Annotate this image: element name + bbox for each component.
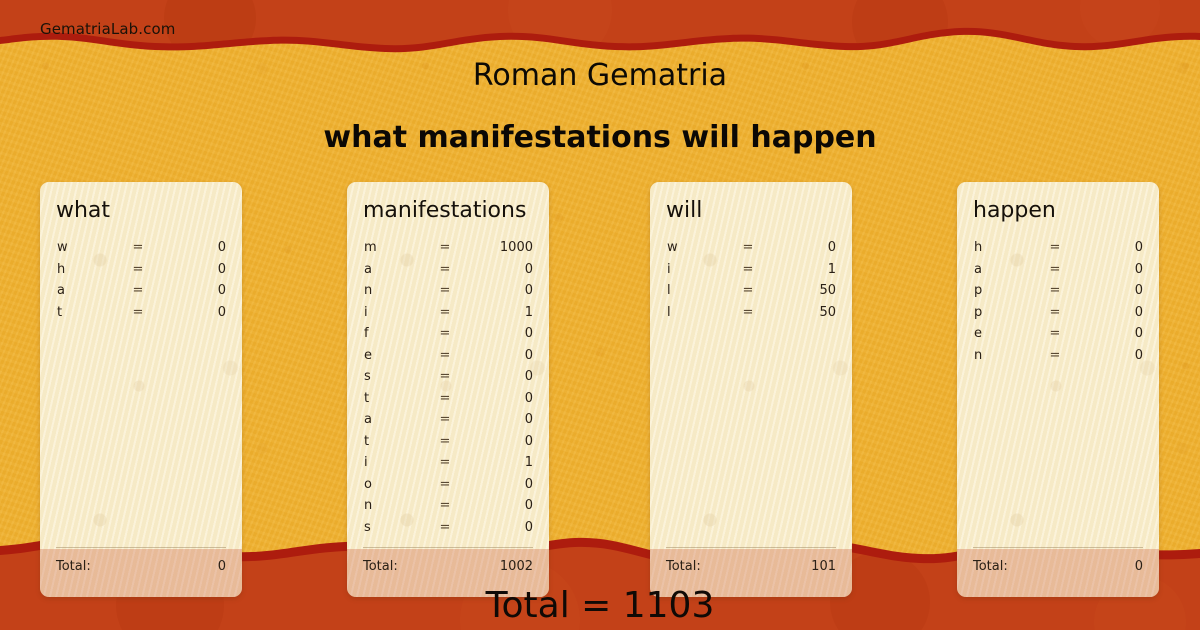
equals-sign: = xyxy=(728,240,768,255)
letter-value: 50 xyxy=(819,305,836,320)
letter-row: h = 0 xyxy=(957,240,1159,262)
letter-value: 0 xyxy=(525,391,533,406)
letter-value: 50 xyxy=(819,283,836,298)
letter-value: 0 xyxy=(525,520,533,535)
equals-sign: = xyxy=(728,262,768,277)
letter: p xyxy=(974,283,982,298)
word-card[interactable]: happen h = 0 a = 0 p = 0 p xyxy=(957,182,1159,597)
letter-row: w = 0 xyxy=(650,240,852,262)
letter-row: f = 0 xyxy=(347,326,549,348)
divider xyxy=(56,547,226,548)
equals-sign: = xyxy=(118,283,158,298)
total-label: Total: xyxy=(363,559,398,574)
letter: n xyxy=(364,283,372,298)
total-value: 101 xyxy=(811,559,836,574)
letter-value: 1 xyxy=(828,262,836,277)
letter-value: 0 xyxy=(525,262,533,277)
total-value: 0 xyxy=(1135,559,1143,574)
letter-value: 0 xyxy=(1135,283,1143,298)
letter-row: i = 1 xyxy=(347,455,549,477)
word-card-list: what w = 0 h = 0 a = 0 t xyxy=(0,0,1200,630)
letter: t xyxy=(364,434,369,449)
letter-row: n = 0 xyxy=(347,283,549,305)
letter: a xyxy=(974,262,982,277)
letter: i xyxy=(364,455,368,470)
card-word-title: will xyxy=(666,198,842,223)
total-value: 1002 xyxy=(500,559,533,574)
letter: n xyxy=(364,498,372,513)
letter: w xyxy=(57,240,68,255)
letter: w xyxy=(667,240,678,255)
letter: o xyxy=(364,477,372,492)
letter: f xyxy=(364,326,369,341)
equals-sign: = xyxy=(425,348,465,363)
letter: e xyxy=(974,326,982,341)
letter: m xyxy=(364,240,377,255)
letter-row: n = 0 xyxy=(957,348,1159,370)
letter-value: 1 xyxy=(525,305,533,320)
letter: a xyxy=(57,283,65,298)
equals-sign: = xyxy=(425,455,465,470)
letter-value: 0 xyxy=(525,326,533,341)
letter-value: 1000 xyxy=(500,240,533,255)
letter: s xyxy=(364,520,371,535)
equals-sign: = xyxy=(1035,240,1075,255)
letter-value: 0 xyxy=(1135,305,1143,320)
letter-value: 0 xyxy=(525,434,533,449)
equals-sign: = xyxy=(118,262,158,277)
letter: t xyxy=(364,391,369,406)
divider xyxy=(363,547,533,548)
letter-value: 0 xyxy=(525,369,533,384)
total-label: Total: xyxy=(973,559,1008,574)
letter-row: i = 1 xyxy=(347,305,549,327)
equals-sign: = xyxy=(425,326,465,341)
letter-row: a = 0 xyxy=(40,283,242,305)
letter-value: 0 xyxy=(218,305,226,320)
equals-sign: = xyxy=(118,305,158,320)
total-label: Total: xyxy=(666,559,701,574)
letter-row: a = 0 xyxy=(347,262,549,284)
equals-sign: = xyxy=(118,240,158,255)
letter: a xyxy=(364,412,372,427)
letter: t xyxy=(57,305,62,320)
letter-row-list: h = 0 a = 0 p = 0 p = 0 xyxy=(957,240,1159,369)
equals-sign: = xyxy=(425,283,465,298)
letter-row-list: w = 0 i = 1 l = 50 l = 50 xyxy=(650,240,852,326)
letter-value: 0 xyxy=(525,283,533,298)
total-value: 0 xyxy=(218,559,226,574)
letter: i xyxy=(667,262,671,277)
letter-row: o = 0 xyxy=(347,477,549,499)
letter: p xyxy=(974,305,982,320)
letter-row: s = 0 xyxy=(347,369,549,391)
equals-sign: = xyxy=(728,305,768,320)
card-word-title: happen xyxy=(973,198,1149,223)
letter-value: 0 xyxy=(218,240,226,255)
letter-row: l = 50 xyxy=(650,305,852,327)
letter-value: 1 xyxy=(525,455,533,470)
word-card[interactable]: manifestations m = 1000 a = 0 n = 0 xyxy=(347,182,549,597)
card-word-title: what xyxy=(56,198,232,223)
letter-row: h = 0 xyxy=(40,262,242,284)
divider xyxy=(973,547,1143,548)
letter-row-list: w = 0 h = 0 a = 0 t = 0 xyxy=(40,240,242,326)
card-total-row: Total: 101 xyxy=(666,559,836,575)
word-card[interactable]: will w = 0 i = 1 l = 50 l xyxy=(650,182,852,597)
letter-row-list: m = 1000 a = 0 n = 0 i = 1 xyxy=(347,240,549,541)
letter-row: a = 0 xyxy=(957,262,1159,284)
equals-sign: = xyxy=(425,262,465,277)
equals-sign: = xyxy=(425,498,465,513)
letter-value: 0 xyxy=(828,240,836,255)
equals-sign: = xyxy=(425,369,465,384)
letter-value: 0 xyxy=(218,283,226,298)
letter: l xyxy=(667,283,671,298)
equals-sign: = xyxy=(1035,283,1075,298)
letter-row: t = 0 xyxy=(347,391,549,413)
letter-row: a = 0 xyxy=(347,412,549,434)
letter-value: 0 xyxy=(525,498,533,513)
equals-sign: = xyxy=(1035,326,1075,341)
equals-sign: = xyxy=(425,412,465,427)
equals-sign: = xyxy=(425,305,465,320)
letter-value: 0 xyxy=(1135,348,1143,363)
letter-value: 0 xyxy=(1135,262,1143,277)
letter-row: t = 0 xyxy=(40,305,242,327)
equals-sign: = xyxy=(425,240,465,255)
equals-sign: = xyxy=(1035,348,1075,363)
letter-value: 0 xyxy=(1135,240,1143,255)
card-total-row: Total: 0 xyxy=(973,559,1143,575)
equals-sign: = xyxy=(425,520,465,535)
equals-sign: = xyxy=(425,434,465,449)
divider xyxy=(666,547,836,548)
letter-row: n = 0 xyxy=(347,498,549,520)
equals-sign: = xyxy=(425,477,465,492)
letter-row: i = 1 xyxy=(650,262,852,284)
card-word-title: manifestations xyxy=(363,198,539,223)
letter: l xyxy=(667,305,671,320)
equals-sign: = xyxy=(1035,305,1075,320)
letter: s xyxy=(364,369,371,384)
letter: h xyxy=(974,240,982,255)
letter: h xyxy=(57,262,65,277)
word-card[interactable]: what w = 0 h = 0 a = 0 t xyxy=(40,182,242,597)
letter-row: s = 0 xyxy=(347,520,549,542)
letter-row: w = 0 xyxy=(40,240,242,262)
letter-value: 0 xyxy=(525,477,533,492)
letter-value: 0 xyxy=(525,348,533,363)
letter-row: e = 0 xyxy=(957,326,1159,348)
letter-value: 0 xyxy=(218,262,226,277)
letter-value: 0 xyxy=(1135,326,1143,341)
letter: n xyxy=(974,348,982,363)
letter-row: p = 0 xyxy=(957,283,1159,305)
equals-sign: = xyxy=(728,283,768,298)
letter: i xyxy=(364,305,368,320)
letter-row: p = 0 xyxy=(957,305,1159,327)
card-total-row: Total: 0 xyxy=(56,559,226,575)
letter-row: e = 0 xyxy=(347,348,549,370)
poster-canvas: GematriaLab.com Roman Gematria what mani… xyxy=(0,0,1200,630)
letter: e xyxy=(364,348,372,363)
letter-row: t = 0 xyxy=(347,434,549,456)
equals-sign: = xyxy=(425,391,465,406)
grand-total: Total = 1103 xyxy=(0,585,1200,626)
letter: a xyxy=(364,262,372,277)
letter-value: 0 xyxy=(525,412,533,427)
total-label: Total: xyxy=(56,559,91,574)
letter-row: l = 50 xyxy=(650,283,852,305)
letter-row: m = 1000 xyxy=(347,240,549,262)
card-total-row: Total: 1002 xyxy=(363,559,533,575)
equals-sign: = xyxy=(1035,262,1075,277)
